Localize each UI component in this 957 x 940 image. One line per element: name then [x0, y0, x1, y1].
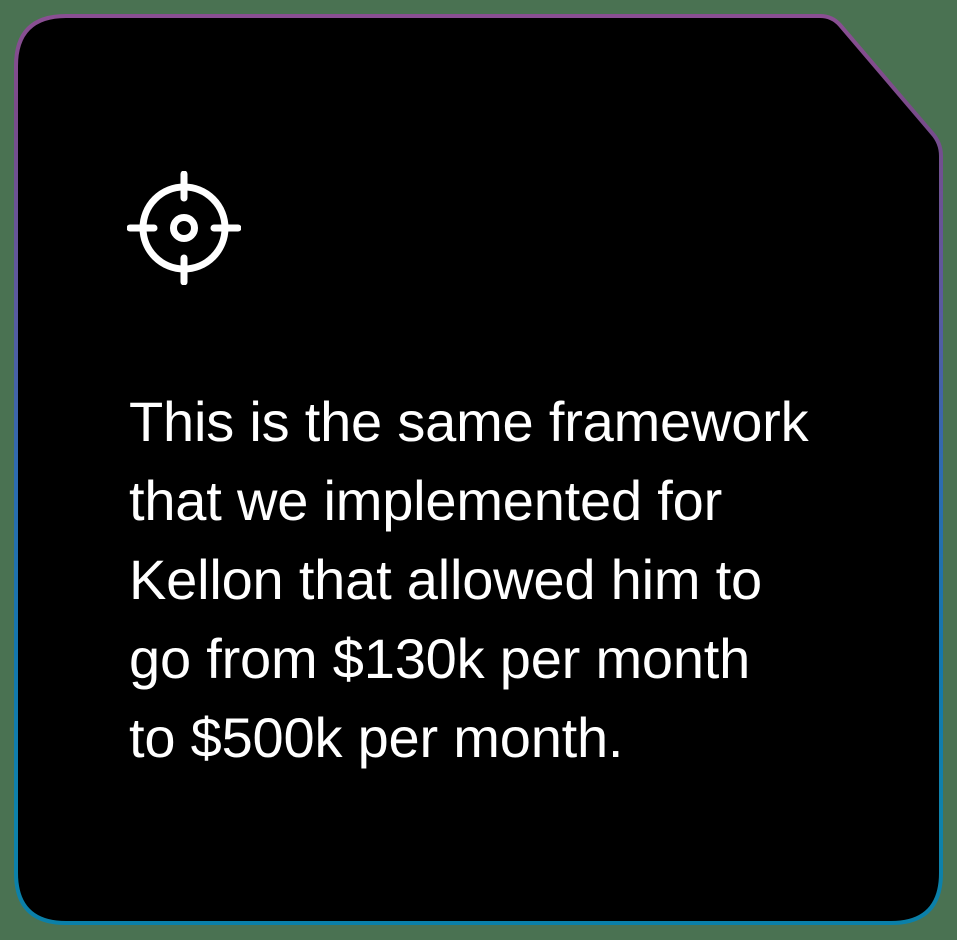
screenshot-canvas: This is the same framework that we imple…: [0, 0, 957, 940]
testimonial-card: This is the same framework that we imple…: [14, 14, 943, 925]
quote-text: This is the same framework that we imple…: [129, 382, 809, 777]
